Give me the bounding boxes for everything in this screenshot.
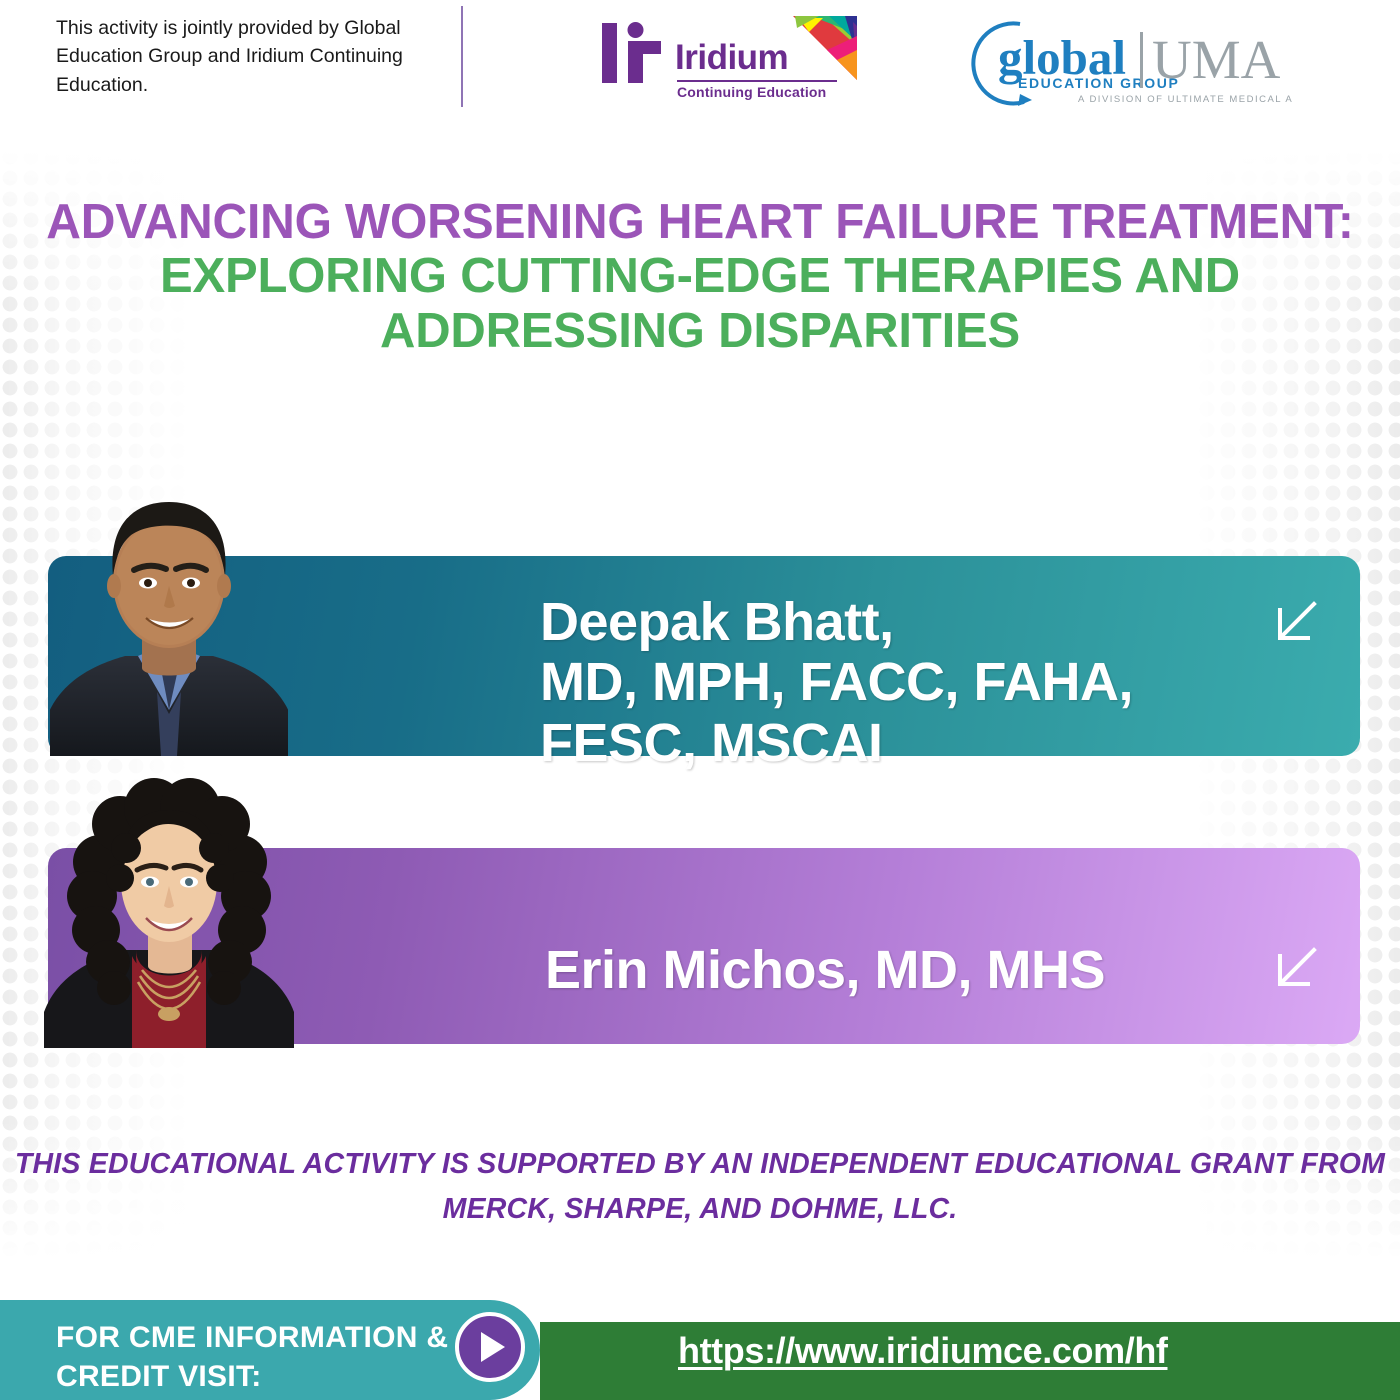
page-title: ADVANCING WORSENING HEART FAILURE TREATM… — [0, 196, 1400, 359]
speaker-card-erin-michos[interactable]: Erin Michos, MD, MHS — [0, 760, 1400, 1050]
iridium-wordmark: Iridium — [675, 38, 788, 78]
title-line-tertiary: ADDRESSING DISPARITIES — [0, 304, 1400, 359]
cme-information-label: FOR CME INFORMATION & CREDIT VISIT: — [56, 1318, 456, 1396]
cme-url-link[interactable]: https://www.iridiumce.com/hf — [678, 1330, 1168, 1372]
title-line-primary: ADVANCING WORSENING HEART FAILURE TREATM… — [14, 196, 1386, 249]
speaker-name: Deepak Bhatt, MD, MPH, FACC, FAHA, FESC,… — [540, 592, 1133, 773]
iridium-logo: Iridium Continuing Education — [598, 16, 856, 106]
header: This activity is jointly provided by Glo… — [0, 0, 1400, 128]
avatar — [50, 478, 288, 756]
avatar — [44, 770, 294, 1048]
arrow-down-left-icon[interactable] — [1272, 944, 1320, 992]
svg-text:UMA: UMA — [1152, 29, 1281, 90]
header-divider — [461, 6, 463, 107]
iridium-rule — [677, 80, 837, 82]
global-education-group-uma-logo: global EDUCATION GROUP UMA A DIVISION OF… — [962, 16, 1292, 110]
arrow-down-left-icon[interactable] — [1272, 598, 1320, 646]
accreditation-statement: This activity is jointly provided by Glo… — [56, 14, 426, 99]
play-button[interactable] — [455, 1312, 525, 1382]
support-statement: THIS EDUCATIONAL ACTIVITY IS SUPPORTED B… — [0, 1142, 1400, 1232]
speaker-card-deepak-bhatt[interactable]: Deepak Bhatt, MD, MPH, FACC, FAHA, FESC,… — [0, 470, 1400, 760]
title-line-secondary: EXPLORING CUTTING-EDGE THERAPIES AND — [0, 249, 1400, 304]
footer: FOR CME INFORMATION & CREDIT VISIT: http… — [0, 1290, 1400, 1400]
svg-text:A DIVISION OF ULTIMATE MEDICAL: A DIVISION OF ULTIMATE MEDICAL ACADEMY — [1078, 94, 1292, 105]
play-triangle-icon — [481, 1332, 505, 1362]
iridium-ir-mark-icon — [598, 21, 668, 87]
iridium-tagline: Continuing Education — [677, 84, 826, 100]
speaker-name: Erin Michos, MD, MHS — [545, 940, 1105, 1000]
iridium-prism-icon — [793, 16, 857, 80]
